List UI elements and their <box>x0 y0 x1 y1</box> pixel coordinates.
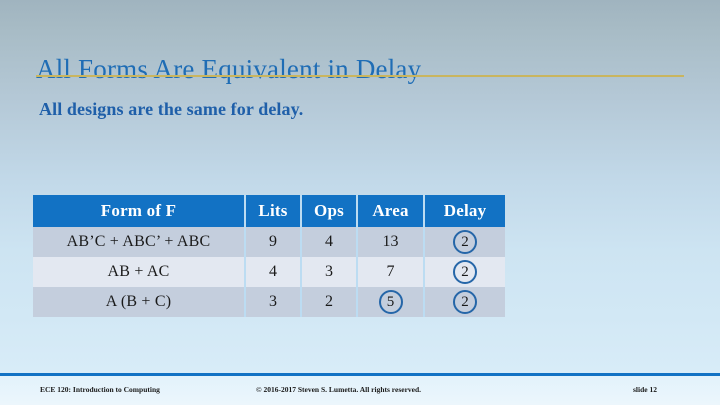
cell-delay: 2 <box>425 227 505 257</box>
column-header-lits: Lits <box>246 195 302 227</box>
table-row: A (B + C) 3 2 5 2 <box>33 287 505 317</box>
column-header-ops: Ops <box>302 195 358 227</box>
cell-lits: 9 <box>246 227 302 257</box>
slide-canvas: All Forms Are Equivalent in Delay All de… <box>0 0 720 405</box>
cell-ops: 3 <box>302 257 358 287</box>
column-header-delay: Delay <box>425 195 505 227</box>
cell-area: 5 <box>358 287 425 317</box>
subtitle-text: All designs are the same for delay. <box>39 99 303 120</box>
cell-area: 7 <box>358 257 425 287</box>
cell-lits: 4 <box>246 257 302 287</box>
cell-lits: 3 <box>246 287 302 317</box>
column-header-area: Area <box>358 195 425 227</box>
comparison-table-container: Form of F Lits Ops Area Delay AB’C + ABC… <box>33 195 497 317</box>
table-header: Form of F Lits Ops Area Delay <box>33 195 505 227</box>
delay-value-highlight: 2 <box>453 230 477 254</box>
area-value-highlight: 5 <box>379 290 403 314</box>
cell-delay: 2 <box>425 287 505 317</box>
table-row: AB + AC 4 3 7 2 <box>33 257 505 287</box>
title-divider <box>36 75 684 77</box>
cell-ops: 4 <box>302 227 358 257</box>
area-value: 7 <box>387 263 395 280</box>
cell-form: AB’C + ABC’ + ABC <box>33 227 246 257</box>
table-body: AB’C + ABC’ + ABC 9 4 13 2 AB + AC 4 3 7… <box>33 227 505 317</box>
page-title: All Forms Are Equivalent in Delay <box>36 52 686 86</box>
cell-area: 13 <box>358 227 425 257</box>
table-header-row: Form of F Lits Ops Area Delay <box>33 195 505 227</box>
delay-value-highlight: 2 <box>453 260 477 284</box>
footer-copyright-label: © 2016-2017 Steven S. Lumetta. All right… <box>256 385 421 394</box>
cell-delay: 2 <box>425 257 505 287</box>
area-value: 13 <box>383 233 399 250</box>
column-header-form: Form of F <box>33 195 246 227</box>
slide-footer: ECE 120: Introduction to Computing © 201… <box>0 376 720 405</box>
comparison-table: Form of F Lits Ops Area Delay AB’C + ABC… <box>33 195 505 317</box>
table-row: AB’C + ABC’ + ABC 9 4 13 2 <box>33 227 505 257</box>
cell-ops: 2 <box>302 287 358 317</box>
footer-course-label: ECE 120: Introduction to Computing <box>40 385 160 394</box>
footer-slide-number: slide 12 <box>633 385 657 394</box>
delay-value-highlight: 2 <box>453 290 477 314</box>
cell-form: A (B + C) <box>33 287 246 317</box>
cell-form: AB + AC <box>33 257 246 287</box>
